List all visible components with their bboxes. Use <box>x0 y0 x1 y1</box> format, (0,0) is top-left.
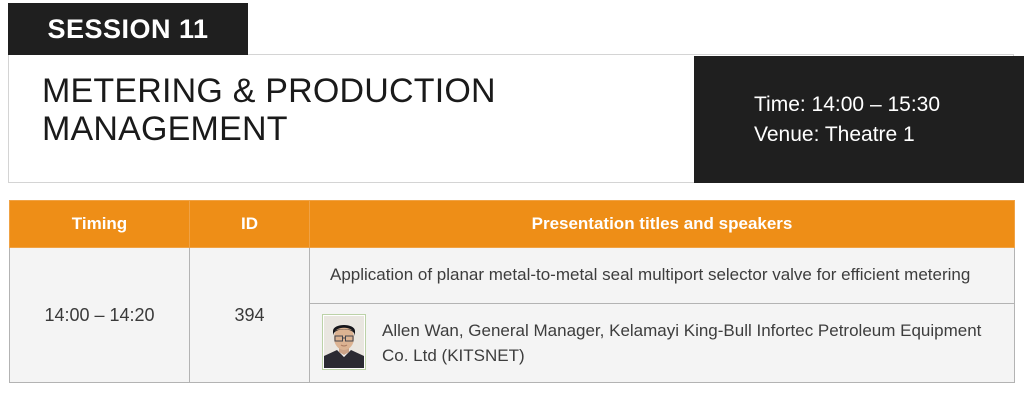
session-number-label: SESSION 11 <box>47 16 208 43</box>
column-header-presentation: Presentation titles and speakers <box>310 201 1015 248</box>
portrait-illustration <box>324 316 364 368</box>
table-row: 14:00 – 14:20 394 Application of planar … <box>10 248 1015 383</box>
speaker-portrait-photo <box>322 314 366 370</box>
column-header-id: ID <box>190 201 310 248</box>
cell-timing: 14:00 – 14:20 <box>10 248 190 383</box>
table-header-row: Timing ID Presentation titles and speake… <box>10 201 1015 248</box>
cell-presentation: Application of planar metal-to-metal sea… <box>310 248 1015 383</box>
speaker-block: Allen Wan, General Manager, Kelamayi Kin… <box>310 304 1014 382</box>
schedule-table-header: Timing ID Presentation titles and speake… <box>10 201 1015 248</box>
cell-id: 394 <box>190 248 310 383</box>
presentation-title: Application of planar metal-to-metal sea… <box>310 248 1014 304</box>
session-schedule-page: SESSION 11 METERING & PRODUCTION MANAGEM… <box>0 0 1024 408</box>
session-title-line-1: METERING & PRODUCTION <box>42 72 682 110</box>
speaker-name-and-affiliation: Allen Wan, General Manager, Kelamayi Kin… <box>382 314 996 368</box>
session-time-label: Time: 14:00 – 15:30 <box>694 90 1024 120</box>
schedule-table: Timing ID Presentation titles and speake… <box>9 200 1015 383</box>
column-header-timing: Timing <box>10 201 190 248</box>
time-venue-box: Time: 14:00 – 15:30 Venue: Theatre 1 <box>694 56 1024 183</box>
session-title: METERING & PRODUCTION MANAGEMENT <box>42 72 682 148</box>
session-venue-label: Venue: Theatre 1 <box>694 120 1024 150</box>
schedule-table-body: 14:00 – 14:20 394 Application of planar … <box>10 248 1015 383</box>
session-number-tab: SESSION 11 <box>8 3 248 55</box>
session-title-line-2: MANAGEMENT <box>42 110 682 148</box>
